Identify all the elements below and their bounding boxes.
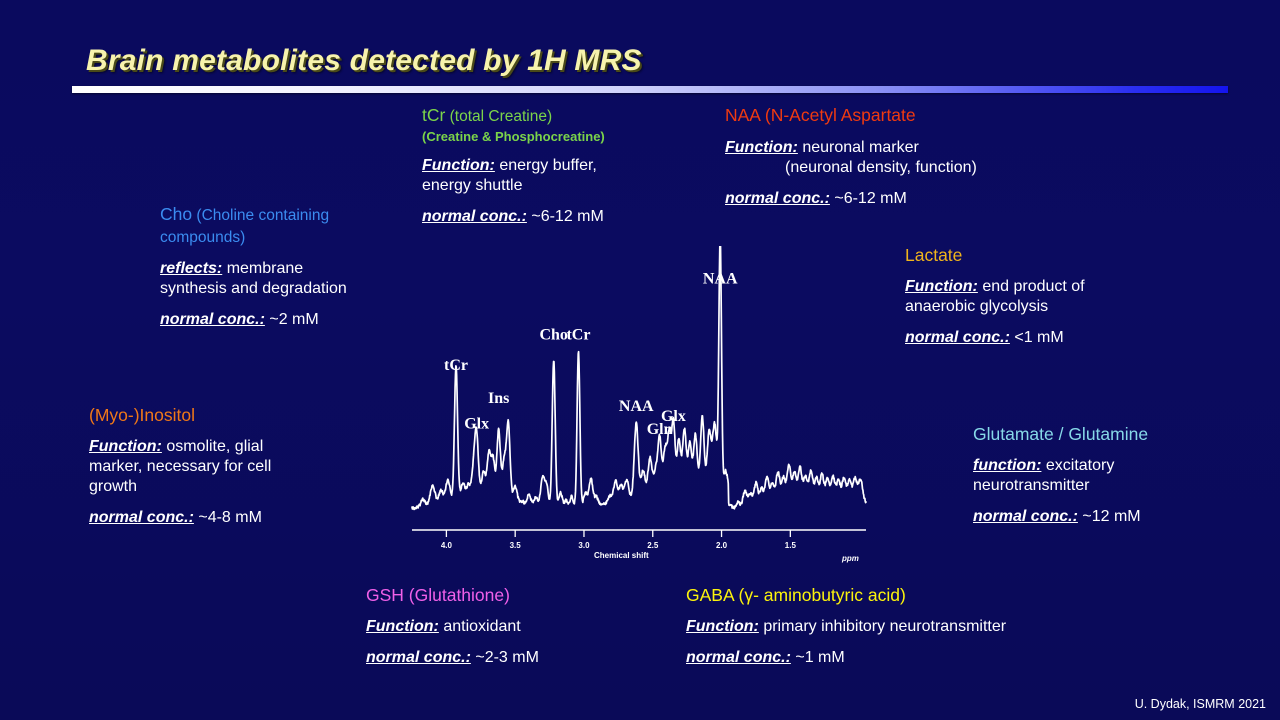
block-row: normal conc.: ~12 mM (973, 507, 1253, 527)
row-label: Function: (89, 438, 162, 455)
x-axis-tick-label: 3.5 (510, 541, 522, 550)
block-header-glutamate: Glutamate / Glutamine (973, 424, 1253, 445)
block-row: normal conc.: <1 mM (905, 328, 1195, 348)
mrs-spectrum-chart: tCrGlxInsChotCrNAAGlnGlxNAA 4.03.53.02.5… (404, 246, 874, 566)
row-text: antioxidant (439, 618, 521, 635)
block-row: normal conc.: ~6-12 mM (422, 207, 722, 227)
block-header-tcr: tCr (total Creatine) (422, 105, 722, 127)
block-row: Function: primary inhibitory neurotransm… (686, 617, 1116, 637)
block-row: Function: antioxidant (366, 617, 666, 637)
block-row: reflects: membrane (160, 259, 375, 279)
block-row: neurotransmitter (973, 476, 1253, 496)
block-header-main: Glutamate / Glutamine (973, 424, 1148, 444)
block-header-main: GABA (γ- aminobutyric acid) (686, 585, 906, 605)
block-subtitle: (Creatine & Phosphocreatine) (422, 129, 722, 145)
block-row: synthesis and degradation (160, 279, 375, 299)
row-text: end product of (978, 278, 1085, 295)
peak-label: NAA (619, 398, 654, 415)
spectrum-svg: tCrGlxInsChotCrNAAGlnGlxNAA 4.03.53.02.5… (404, 246, 874, 566)
row-label: normal conc.: (905, 329, 1010, 346)
block-row: normal conc.: ~1 mM (686, 648, 1116, 668)
row-text: neurotransmitter (973, 477, 1090, 494)
block-row: Function: end product of (905, 277, 1195, 297)
row-label: normal conc.: (725, 190, 830, 207)
peak-label: Ins (488, 390, 509, 407)
row-label: normal conc.: (366, 649, 471, 666)
row-text: primary inhibitory neurotransmitter (759, 618, 1006, 635)
block-row: Function: energy buffer, (422, 156, 722, 176)
block-header-lactate: Lactate (905, 245, 1195, 266)
row-label: Function: (725, 139, 798, 156)
row-text: <1 mM (1010, 329, 1064, 346)
row-label: normal conc.: (160, 311, 265, 328)
row-text: osmolite, glial (162, 438, 263, 455)
row-text: energy shuttle (422, 177, 523, 194)
block-row: normal conc.: ~2 mM (160, 310, 375, 330)
row-label: Function: (422, 157, 495, 174)
x-axis-tick-label: 2.0 (716, 541, 728, 550)
block-row: energy shuttle (422, 176, 722, 196)
row-label: Function: (366, 618, 439, 635)
row-label: function: (973, 457, 1041, 474)
row-text: ~6-12 mM (527, 208, 604, 225)
row-text: anaerobic glycolysis (905, 298, 1048, 315)
peak-label-group: tCrGlxInsChotCrNAAGlnGlxNAA (444, 270, 738, 437)
row-text: (neuronal density, function) (725, 158, 1055, 178)
x-axis-tick-label: 2.5 (647, 541, 659, 550)
block-header-naa: NAA (N-Acetyl Aspartate (725, 105, 1055, 126)
metabolite-block-gaba: GABA (γ- aminobutyric acid) Function: pr… (686, 585, 1116, 668)
metabolite-block-naa: NAA (N-Acetyl Aspartate Function: neuron… (725, 105, 1055, 209)
row-text: growth (89, 478, 137, 495)
title-divider (72, 86, 1228, 93)
block-header-cho: Cho (Choline containing compounds) (160, 204, 375, 248)
metabolite-block-lactate: Lactate Function: end product of anaerob… (905, 245, 1195, 348)
row-text: neuronal marker (798, 139, 919, 156)
row-label: Function: (905, 278, 978, 295)
x-axis-tick-label: 3.0 (578, 541, 590, 550)
block-row: normal conc.: ~2-3 mM (366, 648, 666, 668)
metabolite-block-tcr: tCr (total Creatine) (Creatine & Phospho… (422, 105, 722, 227)
row-text: ~2-3 mM (471, 649, 539, 666)
block-header-main: Lactate (905, 245, 962, 265)
page-title: Brain metabolites detected by 1H MRS (86, 44, 642, 78)
x-axis-label: Chemical shift (594, 551, 649, 560)
row-text: membrane (222, 260, 303, 277)
block-row: function: excitatory (973, 456, 1253, 476)
row-text: marker, necessary for cell (89, 458, 271, 475)
row-label: normal conc.: (89, 509, 194, 526)
metabolite-block-glutamate: Glutamate / Glutamine function: excitato… (973, 424, 1253, 527)
spectrum-trace (412, 246, 866, 509)
row-text: ~2 mM (265, 311, 319, 328)
block-header-gsh: GSH (Glutathione) (366, 585, 666, 606)
metabolite-block-cho: Cho (Choline containing compounds) refle… (160, 204, 375, 330)
block-row: normal conc.: ~6-12 mM (725, 189, 1055, 209)
block-row: growth (89, 477, 329, 497)
block-header-main: Cho (160, 204, 192, 224)
slide-title-wrap: Brain metabolites detected by 1H MRS (86, 44, 642, 78)
x-axis-tick-label: 4.0 (441, 541, 453, 550)
block-header-main: (Myo-)Inositol (89, 405, 195, 425)
block-row: (neuronal density, function) (725, 158, 1055, 178)
row-label: reflects: (160, 260, 222, 277)
row-label: normal conc.: (422, 208, 527, 225)
row-text: ~1 mM (791, 649, 845, 666)
credit-line: U. Dydak, ISMRM 2021 (1135, 697, 1266, 711)
slide-root: Brain metabolites detected by 1H MRS tCr… (0, 0, 1280, 720)
row-text: ~4-8 mM (194, 509, 262, 526)
block-row: Function: osmolite, glial (89, 437, 329, 457)
row-text: energy buffer, (495, 157, 597, 174)
block-header-main: tCr (422, 105, 445, 125)
row-text: synthesis and degradation (160, 280, 347, 297)
block-header-main: NAA (N-Acetyl Aspartate (725, 105, 916, 125)
peak-label: tCr (566, 326, 590, 343)
block-header-gaba: GABA (γ- aminobutyric acid) (686, 585, 1116, 606)
metabolite-block-inositol: (Myo-)Inositol Function: osmolite, glial… (89, 405, 329, 528)
x-axis-tick-label: 1.5 (785, 541, 797, 550)
block-row: normal conc.: ~4-8 mM (89, 508, 329, 528)
block-header-inositol: (Myo-)Inositol (89, 405, 329, 426)
block-row: anaerobic glycolysis (905, 297, 1195, 317)
block-header-main: GSH (Glutathione) (366, 585, 510, 605)
row-text: excitatory (1041, 457, 1114, 474)
metabolite-block-gsh: GSH (Glutathione) Function: antioxidant … (366, 585, 666, 668)
block-row: Function: neuronal marker (725, 138, 1055, 158)
peak-label: Cho (539, 326, 567, 343)
x-axis-unit: ppm (841, 554, 859, 563)
row-label: Function: (686, 618, 759, 635)
x-axis-tick-group: 4.03.53.02.52.01.5 (441, 530, 797, 550)
block-header-sub: (total Creatine) (445, 108, 552, 125)
row-label: normal conc.: (973, 508, 1078, 525)
row-text: ~12 mM (1078, 508, 1141, 525)
block-row: marker, necessary for cell (89, 457, 329, 477)
row-label: normal conc.: (686, 649, 791, 666)
row-text: ~6-12 mM (830, 190, 907, 207)
